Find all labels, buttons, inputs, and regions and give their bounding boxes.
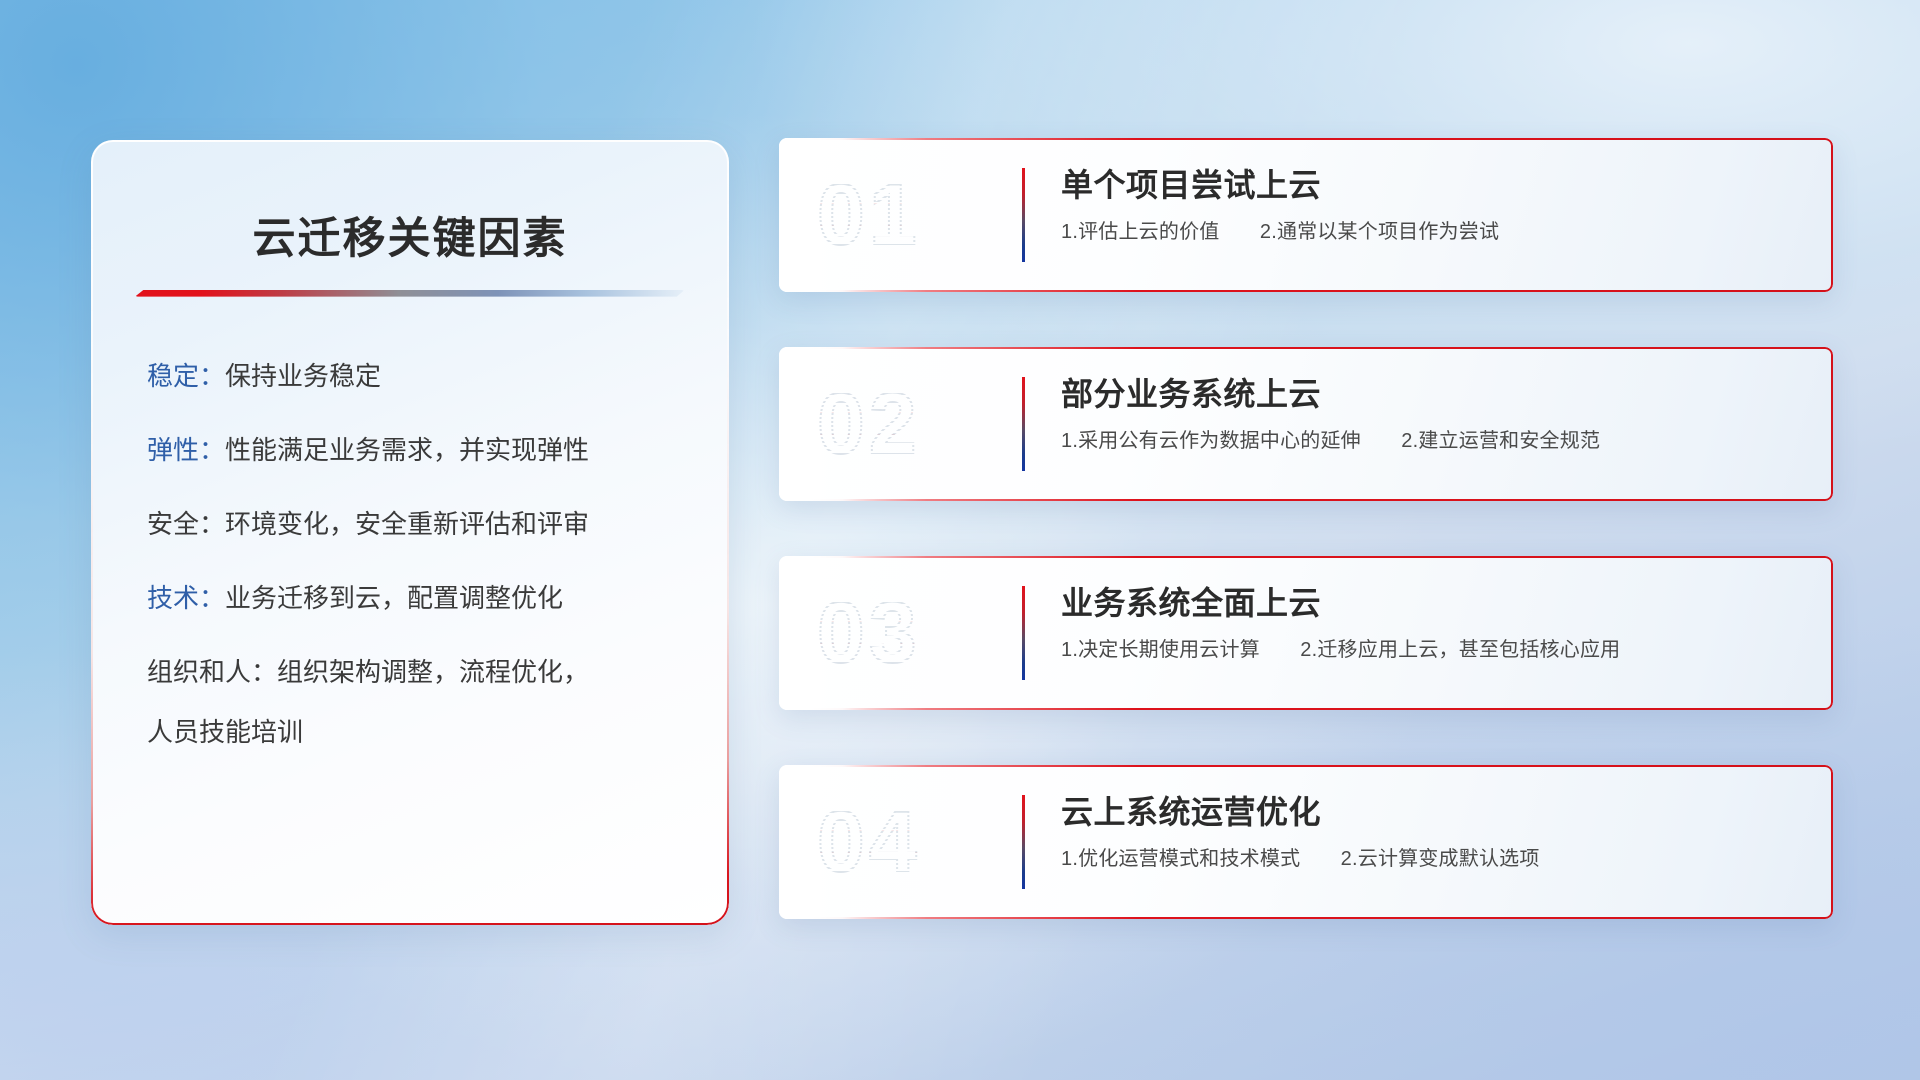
step-text-block: 部分业务系统上云1.采用公有云作为数据中心的延伸 2.建立运营和安全规范 xyxy=(1061,375,1807,454)
slide-stage: 云迁移关键因素 稳定：保持业务稳定弹性：性能满足业务需求，并实现弹性安全：环境变… xyxy=(0,0,1920,1080)
step-number: 02 xyxy=(817,381,921,467)
factor-item: 安全：环境变化，安全重新评估和评审 xyxy=(147,511,685,537)
step-text-block: 业务系统全面上云1.决定长期使用云计算 2.迁移应用上云，甚至包括核心应用 xyxy=(1061,584,1807,663)
step-subtitle: 1.决定长期使用云计算 2.迁移应用上云，甚至包括核心应用 xyxy=(1061,637,1807,663)
step-card[interactable]: 0202部分业务系统上云1.采用公有云作为数据中心的延伸 2.建立运营和安全规范 xyxy=(779,347,1833,501)
page-title: 云迁移关键因素 xyxy=(135,214,685,266)
step-title: 云上系统运营优化 xyxy=(1061,793,1807,832)
factor-label: 弹性： xyxy=(147,435,225,465)
step-title: 单个项目尝试上云 xyxy=(1061,166,1807,205)
factor-label: 组织和人： xyxy=(147,657,277,687)
step-subtitle: 1.评估上云的价值 2.通常以某个项目作为尝试 xyxy=(1061,219,1807,245)
key-factors-panel-inner: 云迁移关键因素 稳定：保持业务稳定弹性：性能满足业务需求，并实现弹性安全：环境变… xyxy=(91,140,729,745)
factor-text: 组织架构调整，流程优化， xyxy=(277,657,589,687)
factor-text: 性能满足业务需求，并实现弹性 xyxy=(225,435,589,465)
step-card[interactable]: 0404云上系统运营优化1.优化运营模式和技术模式 2.云计算变成默认选项 xyxy=(779,765,1833,919)
factor-text-continuation: 人员技能培训 xyxy=(147,719,685,745)
step-subtitle: 1.采用公有云作为数据中心的延伸 2.建立运营和安全规范 xyxy=(1061,428,1807,454)
factor-item: 技术：业务迁移到云，配置调整优化 xyxy=(147,585,685,611)
step-text-block: 云上系统运营优化1.优化运营模式和技术模式 2.云计算变成默认选项 xyxy=(1061,793,1807,872)
step-title: 业务系统全面上云 xyxy=(1061,584,1807,623)
factor-text: 环境变化，安全重新评估和评审 xyxy=(225,509,589,539)
step-text-block: 单个项目尝试上云1.评估上云的价值 2.通常以某个项目作为尝试 xyxy=(1061,166,1807,245)
step-title: 部分业务系统上云 xyxy=(1061,375,1807,414)
factor-item: 弹性：性能满足业务需求，并实现弹性 xyxy=(147,437,685,463)
key-factors-panel: 云迁移关键因素 稳定：保持业务稳定弹性：性能满足业务需求，并实现弹性安全：环境变… xyxy=(91,140,729,925)
factor-item: 稳定：保持业务稳定 xyxy=(147,363,685,389)
step-number: 03 xyxy=(817,590,921,676)
factor-text: 业务迁移到云，配置调整优化 xyxy=(225,583,563,613)
step-divider-bar xyxy=(1022,377,1025,471)
step-number: 04 xyxy=(817,799,921,885)
factor-list: 稳定：保持业务稳定弹性：性能满足业务需求，并实现弹性安全：环境变化，安全重新评估… xyxy=(135,363,685,745)
title-underline-rule xyxy=(135,290,685,297)
step-divider-bar xyxy=(1022,586,1025,680)
step-number: 01 xyxy=(817,172,921,258)
migration-steps-list: 0101单个项目尝试上云1.评估上云的价值 2.通常以某个项目作为尝试0202部… xyxy=(779,138,1833,919)
factor-label: 技术： xyxy=(147,583,225,613)
step-card[interactable]: 0303业务系统全面上云1.决定长期使用云计算 2.迁移应用上云，甚至包括核心应… xyxy=(779,556,1833,710)
factor-text: 保持业务稳定 xyxy=(225,361,381,391)
step-divider-bar xyxy=(1022,168,1025,262)
step-divider-bar xyxy=(1022,795,1025,889)
factor-item: 组织和人：组织架构调整，流程优化， xyxy=(147,659,685,685)
factor-label: 安全： xyxy=(147,509,225,539)
factor-label: 稳定： xyxy=(147,361,225,391)
step-card[interactable]: 0101单个项目尝试上云1.评估上云的价值 2.通常以某个项目作为尝试 xyxy=(779,138,1833,292)
step-subtitle: 1.优化运营模式和技术模式 2.云计算变成默认选项 xyxy=(1061,846,1807,872)
